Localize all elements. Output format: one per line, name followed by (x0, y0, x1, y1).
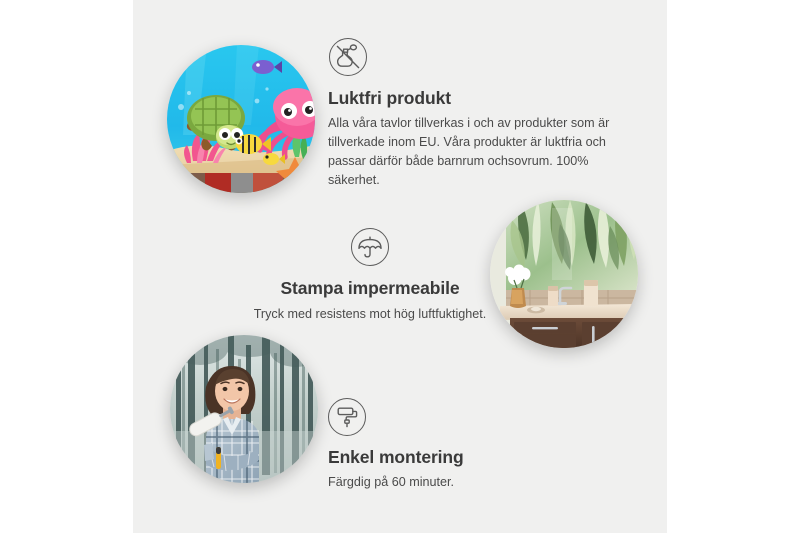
feature-body: Tryck med resistens mot hög luftfuktighe… (205, 305, 535, 324)
page-root: Luktfri produkt Alla våra tavlor tillver… (0, 0, 800, 533)
installer-forest-photo (170, 335, 318, 483)
feature-title: Enkel montering (328, 447, 588, 469)
feature-odorless: Luktfri produkt Alla våra tavlor tillver… (328, 38, 633, 190)
underwater-illustration (167, 45, 315, 193)
installer-illustration (170, 335, 318, 483)
umbrella-icon (351, 228, 389, 266)
paint-roller-icon (328, 398, 366, 436)
content-panel: Luktfri produkt Alla våra tavlor tillver… (133, 0, 667, 533)
feature-body: Färgdig på 60 minuter. (328, 473, 588, 492)
feature-title: Luktfri produkt (328, 88, 633, 110)
feature-body: Alla våra tavlor tillverkas i och av pro… (328, 114, 618, 191)
feature-easy-mounting: Enkel montering Färgdig på 60 minuter. (328, 398, 588, 492)
feature-waterproof: Stampa impermeabile Tryck med resistens … (205, 228, 535, 324)
no-fragrance-icon (329, 38, 367, 76)
feature-title: Stampa impermeabile (205, 278, 535, 300)
underwater-scene-photo (167, 45, 315, 193)
